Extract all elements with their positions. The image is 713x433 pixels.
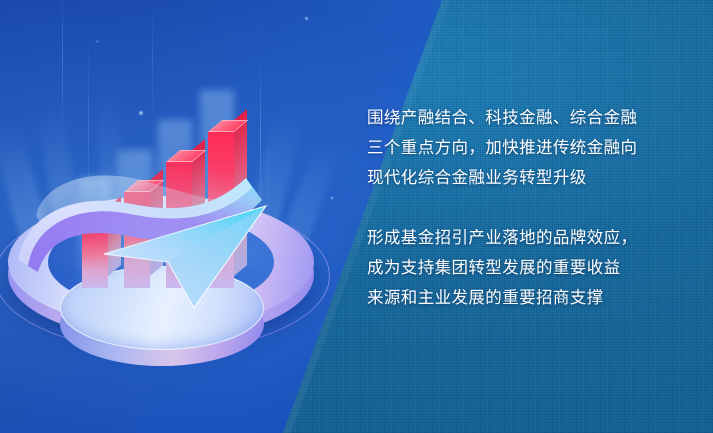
upward-trend-arrow-icon: [0, 96, 330, 356]
paragraph-1: 围绕产融结合、科技金融、综合金融 三个重点方向，加快推进传统金融向 现代化综合金…: [367, 103, 672, 193]
copy-block: 围绕产融结合、科技金融、综合金融 三个重点方向，加快推进传统金融向 现代化综合金…: [367, 103, 672, 313]
growth-chart-illustration: [0, 96, 330, 356]
banner-canvas: 围绕产融结合、科技金融、综合金融 三个重点方向，加快推进传统金融向 现代化综合金…: [0, 0, 713, 433]
paragraph-2: 形成基金招引产业落地的品牌效应， 成为支持集团转型发展的重要收益 来源和主业发展…: [367, 223, 672, 313]
